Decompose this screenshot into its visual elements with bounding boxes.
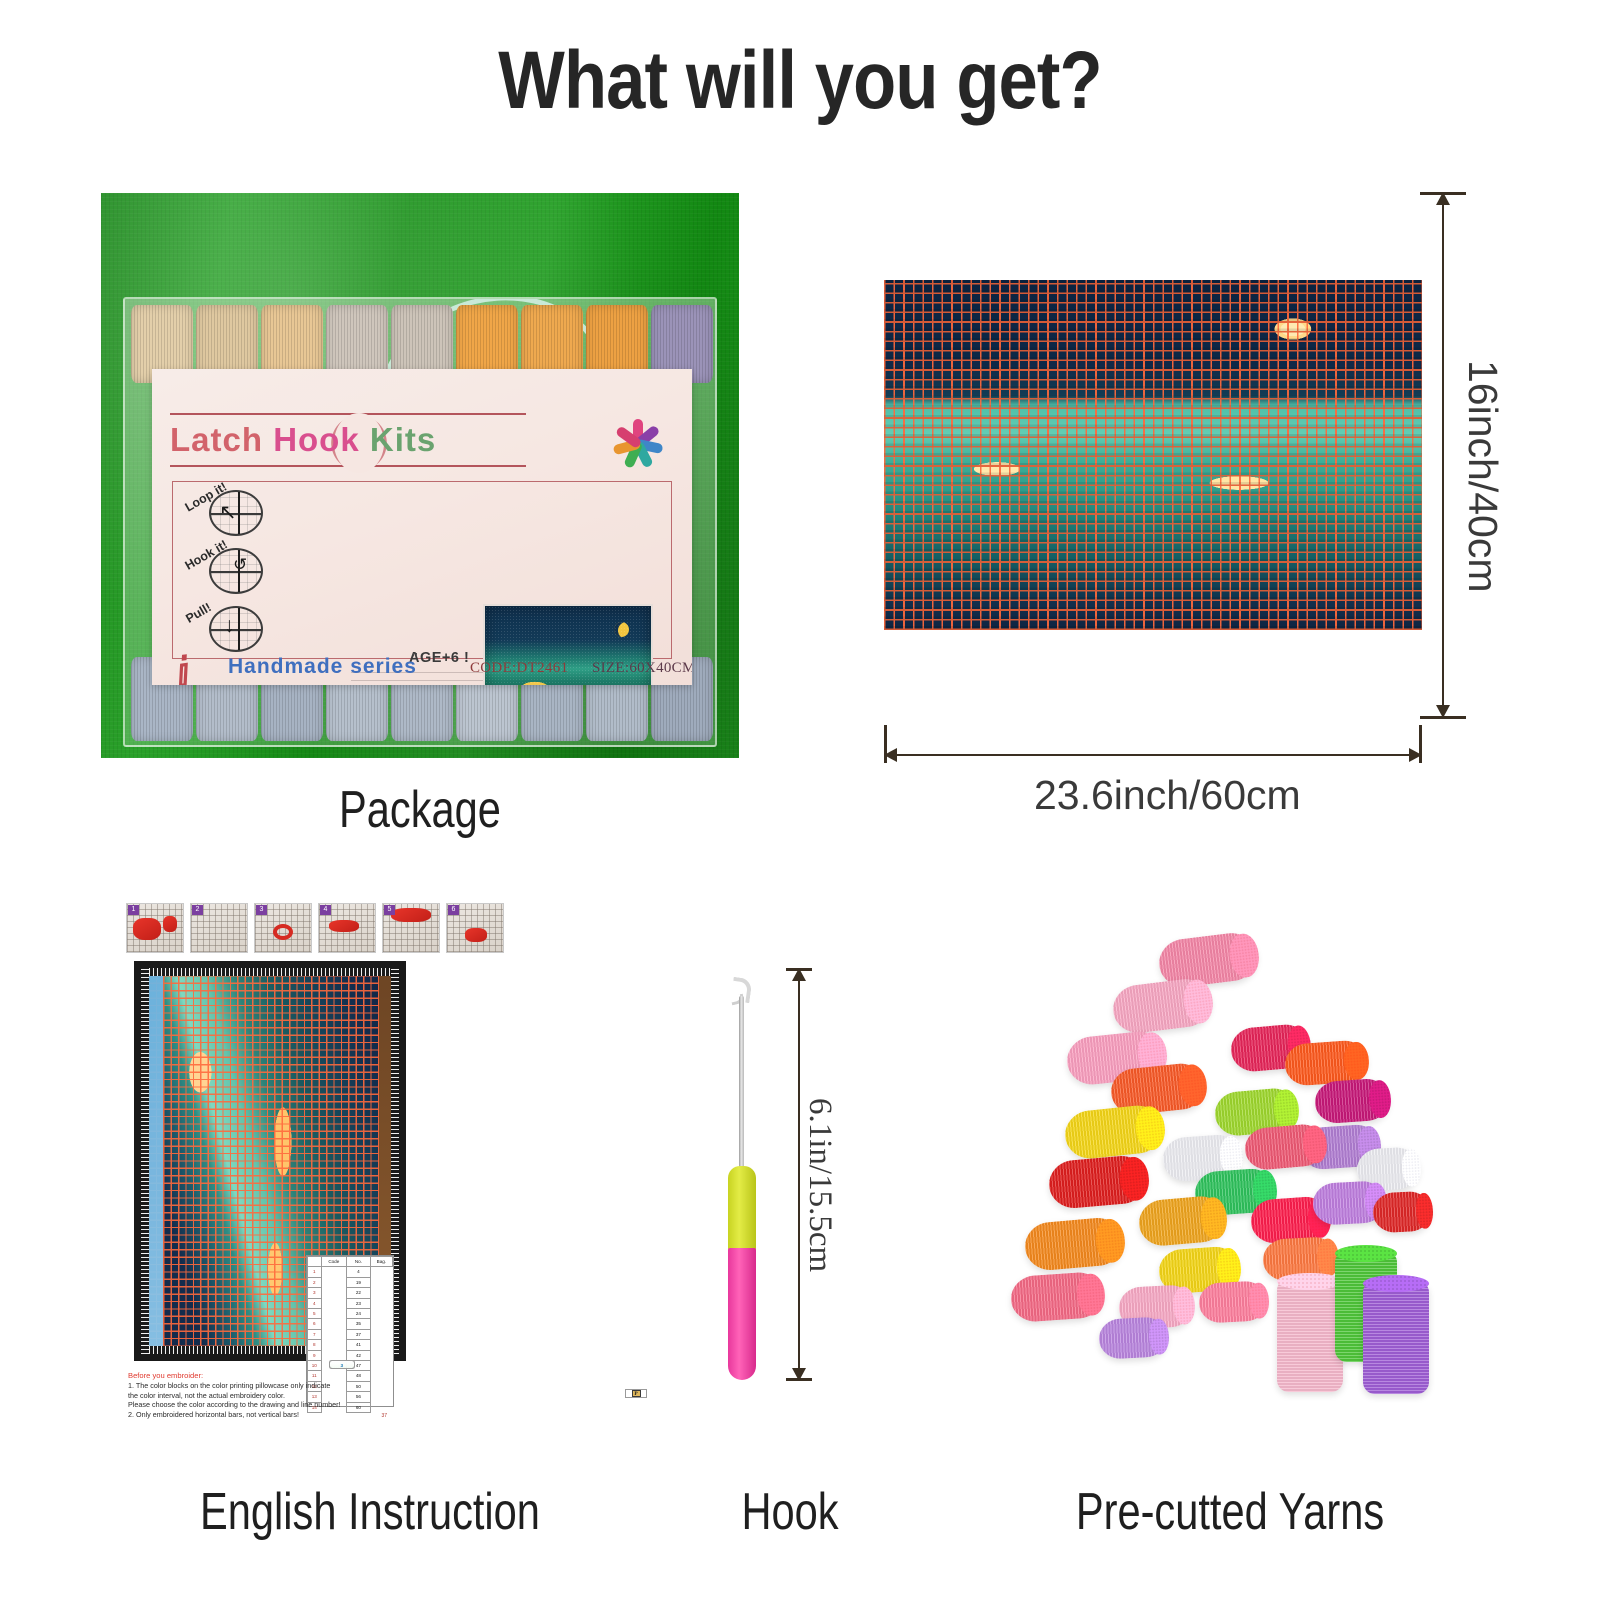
legend-index: 10 (308, 1361, 322, 1371)
canvas-width-value: 23.6inch/60cm (1034, 772, 1301, 819)
page-title: What will you get? (112, 34, 1488, 128)
list-item: 6 (446, 903, 504, 953)
yarn-cylinder (1047, 1154, 1149, 1210)
yarn-bundle (1363, 1282, 1429, 1394)
notes-line: the color interval, not the actual embro… (128, 1391, 414, 1401)
legend-col-index (308, 1257, 322, 1267)
legend-index: 2 (308, 1277, 322, 1287)
list-item: 5 (382, 903, 440, 953)
quote-mark: " (412, 651, 418, 669)
printed-canvas (884, 280, 1422, 630)
age-label: AGE+6 ! (409, 650, 469, 666)
chart-ruler-left (141, 968, 149, 1354)
legend-index: 4 (308, 1298, 322, 1308)
brand-word-kits: Kits (370, 421, 436, 458)
thumbnail-number: 4 (320, 905, 331, 915)
step-circle-hook: ↺ (209, 548, 263, 594)
product-code: CODE:DT2461 (470, 660, 568, 677)
legend-col-no: No. (347, 1257, 371, 1267)
legend-index: 3 (308, 1288, 322, 1298)
caption-english-instruction: English Instruction (122, 1482, 618, 1542)
table-row: 6F353 (308, 1319, 393, 1329)
precut-yarns-photo (963, 930, 1463, 1400)
notes-heading: Before you embroider: (128, 1371, 414, 1380)
notes-line: 1. The color blocks on the color printin… (128, 1381, 414, 1391)
list-item: 3 (254, 903, 312, 953)
table-row: 1A43 (308, 1267, 393, 1277)
pinwheel-logo-icon (606, 413, 668, 475)
package-photo: Latch Hook Kits Loop (101, 193, 739, 758)
canvas-height-value: 16inch/40cm (1459, 360, 1506, 592)
table-row: 7G373 (308, 1329, 393, 1339)
legend-code: P (625, 1389, 647, 1398)
instruction-sheet: 1 2 3 4 5 (126, 903, 418, 1443)
legend-index: 6 (308, 1319, 322, 1329)
legend-number: 22 (347, 1288, 371, 1298)
list-item: 1 (126, 903, 184, 953)
caption-package: Package (165, 780, 675, 840)
legend-number: 41 (347, 1340, 371, 1350)
hook-shaft (739, 996, 744, 1178)
yarn-cylinder (1023, 1216, 1125, 1272)
brand-title: Latch Hook Kits (170, 421, 570, 469)
notes-line: 2. Only embroidered horizontal bars, not… (128, 1410, 414, 1420)
legend-index: 9 (308, 1350, 322, 1360)
yarn-cylinder (1314, 1077, 1391, 1124)
table-row: 5E242 (308, 1309, 393, 1319)
step-circle-pull: ↓ (209, 606, 263, 652)
caption-pre-cutted-yarns: Pre-cutted Yarns (990, 1482, 1470, 1542)
yarn-cylinder (1372, 1191, 1432, 1234)
legend-index: 7 (308, 1329, 322, 1339)
canvas-pixel-overlay (884, 280, 1422, 630)
legend-number: 37 (347, 1329, 371, 1339)
legend-index: 8 (308, 1340, 322, 1350)
instruction-box: Loop it! ↖ Hook it! ↺ Pull! ↓ AGE+6 ! (172, 481, 672, 659)
hook-length-value: 6.1in/15.5cm (801, 1098, 838, 1272)
yarn-cylinder (1098, 1316, 1168, 1360)
legend-number: 23 (347, 1298, 371, 1308)
thumbnail-number: 5 (384, 905, 395, 915)
brand-word-latch: Latch (170, 421, 263, 458)
thumbnail-number: 1 (128, 905, 139, 915)
list-item: 2 (190, 903, 248, 953)
yarn-bundle (1277, 1280, 1343, 1392)
instruction-notes: Before you embroider: 1. The color block… (128, 1371, 414, 1420)
thumbnail-number: 2 (192, 905, 203, 915)
legend-bag: 3 (329, 1360, 355, 1369)
caption-hook: Hook (670, 1482, 910, 1542)
step-thumbnails: 1 2 3 4 5 (126, 903, 506, 955)
legend-number: 42 (347, 1350, 371, 1360)
table-header-row: Code No. Bag. (308, 1257, 393, 1267)
legend-col-code: Code (321, 1257, 346, 1267)
legend-col-bag: Bag. (370, 1257, 392, 1267)
yarn-cylinder (1063, 1103, 1165, 1161)
table-row: 8H413 (308, 1340, 393, 1350)
yarn-cylinder (1137, 1194, 1227, 1247)
notes-line: Please choose the color according to the… (128, 1400, 414, 1410)
table-row: 2B191 (308, 1277, 393, 1287)
zigzag-decoration-icon: ⅈ (173, 648, 220, 685)
latch-hook-tool (718, 968, 766, 1380)
list-item: 4 (318, 903, 376, 953)
product-size: SIZE:60X40CM (592, 660, 692, 677)
package-label: Latch Hook Kits Loop (152, 369, 692, 685)
chart-ruler-top (141, 968, 399, 976)
brand-word-hook: Hook (273, 421, 360, 458)
step-circle-loop: ↖ (209, 490, 263, 536)
table-row: 3C224 (308, 1288, 393, 1298)
thumbnail-number: 3 (256, 905, 267, 915)
table-row: 9J421 (308, 1350, 393, 1360)
product-infographic: What will you get? (0, 0, 1600, 1600)
yarn-cylinder (1010, 1271, 1105, 1323)
legend-number: 24 (347, 1309, 371, 1319)
legend-number: 35 (347, 1319, 371, 1329)
legend-index: 5 (308, 1309, 322, 1319)
thumbnail-number: 6 (448, 905, 459, 915)
yarn-cylinder (1110, 976, 1213, 1036)
hook-grip-lower (728, 1248, 756, 1380)
table-row: 4D235 (308, 1298, 393, 1308)
yarn-cylinder (1198, 1280, 1268, 1324)
series-label: Handmade series (228, 655, 417, 679)
legend-number: 19 (347, 1277, 371, 1287)
hook-grip-upper (728, 1166, 756, 1250)
plastic-bag: Latch Hook Kits Loop (123, 297, 717, 747)
legend-index: 1 (308, 1267, 322, 1277)
legend-number: 4 (347, 1267, 371, 1277)
